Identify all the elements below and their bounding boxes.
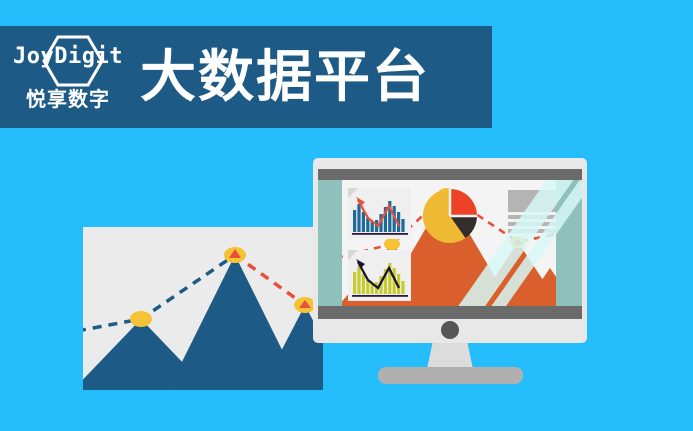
axis-line (352, 233, 408, 235)
monitor-bottom-bezel (318, 306, 582, 319)
data-point-marker (384, 238, 400, 250)
axis-line (352, 295, 408, 297)
monitor-screen (318, 180, 582, 306)
data-point-marker (130, 311, 152, 327)
arrow-head-icon (356, 259, 365, 268)
screen-side-band-right (556, 180, 582, 306)
olive-bar-chart (352, 256, 408, 299)
text-line (508, 215, 556, 219)
monitor-top-bezel (318, 169, 582, 180)
blue-bar-chart-card (348, 188, 411, 239)
left-mountain-panel (83, 227, 323, 390)
brand-logo: JoyDigit 悦享数字 (12, 32, 124, 122)
monitor-base (378, 367, 523, 384)
blue-bar-chart (352, 194, 408, 237)
poster-canvas: JoyDigit 悦享数字 大数据平台 (0, 0, 693, 431)
desktop-monitor (313, 158, 587, 343)
power-button-icon[interactable] (441, 321, 459, 339)
brand-subtitle: 悦享数字 (12, 90, 124, 110)
page-title: 大数据平台 (140, 49, 430, 105)
pie-chart (422, 188, 478, 244)
text-line (508, 229, 556, 233)
pie-slice-b (450, 189, 477, 216)
arrow-head-icon (356, 197, 365, 206)
header-banner: JoyDigit 悦享数字 大数据平台 (0, 26, 492, 128)
image-placeholder (508, 190, 556, 212)
text-line (508, 222, 556, 226)
blue-mountain-chart (83, 227, 323, 390)
olive-bar-chart-card (348, 250, 411, 301)
content-placeholder (508, 190, 556, 236)
screen-side-band-left (318, 180, 342, 306)
monitor-stand (427, 343, 473, 369)
brand-wordmark: JoyDigit (12, 46, 124, 68)
